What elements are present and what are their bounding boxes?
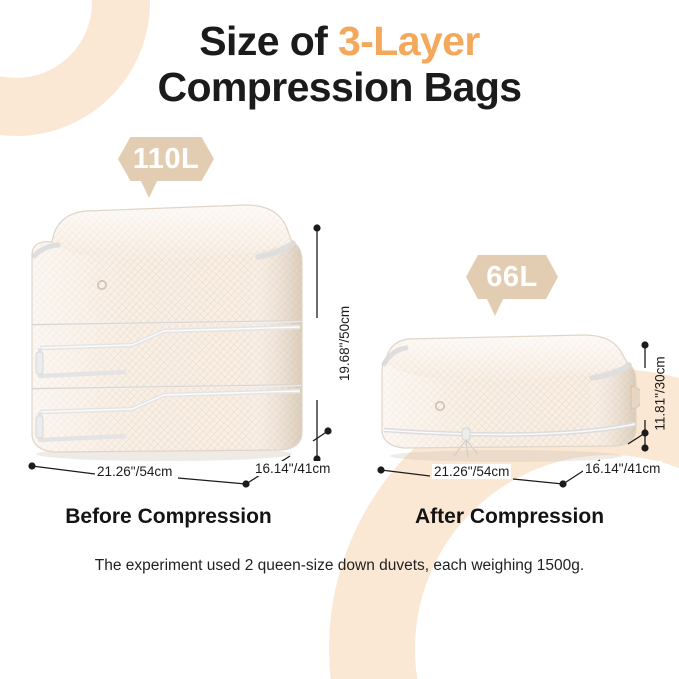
dim-endpoint [641, 444, 648, 451]
dim-endpoint [377, 466, 384, 473]
dimension-label-width-after: 21.26"/54cm [432, 464, 511, 479]
volume-badge-110l-tail [140, 179, 158, 198]
title-accent-text: 3-Layer [338, 18, 480, 64]
volume-badge-66l: 66L [466, 255, 558, 299]
dimension-label-height-after: 11.81"/30cm [653, 354, 668, 432]
zipper-pull-3 [36, 416, 43, 438]
product-image-before-compression [14, 200, 306, 462]
caption-after-compression: After Compression [340, 505, 679, 529]
title-line-1: Size of 3-Layer [0, 18, 679, 64]
dim-endpoint [313, 224, 320, 231]
title-plain-text: Size of [199, 18, 338, 64]
footnote-text: The experiment used 2 queen-size down du… [0, 557, 679, 575]
dim-endpoint [559, 480, 566, 487]
infographic-canvas: Size of 3-Layer Compression Bags [0, 0, 679, 679]
volume-badge-66l-bubble: 66L [466, 255, 558, 299]
dim-endpoint [641, 429, 648, 436]
volume-badge-66l-tail [486, 297, 504, 316]
bag-illustration-3-layer [14, 200, 306, 462]
title-line-2: Compression Bags [0, 64, 679, 110]
volume-badge-110l: 110L [118, 137, 214, 181]
volume-badge-110l-bubble: 110L [118, 137, 214, 181]
caption-before-compression: Before Compression [0, 505, 337, 529]
zipper-pull-2 [36, 352, 43, 374]
page-title: Size of 3-Layer Compression Bags [0, 18, 679, 111]
dim-endpoint [641, 341, 648, 348]
dimension-label-depth-after: 16.14"/41cm [583, 461, 662, 476]
dim-endpoint [324, 427, 331, 434]
dimension-label-width-before: 21.26"/54cm [95, 464, 174, 479]
product-image-after-compression [378, 332, 640, 462]
bag-illustration-compressed [378, 332, 640, 462]
dimension-label-height-before: 19.68"/50cm [337, 304, 352, 383]
dimension-label-depth-before: 16.14"/41cm [253, 461, 332, 476]
dim-endpoint [28, 462, 35, 469]
zipper-pull-compressed [462, 428, 470, 440]
dim-endpoint [242, 480, 249, 487]
